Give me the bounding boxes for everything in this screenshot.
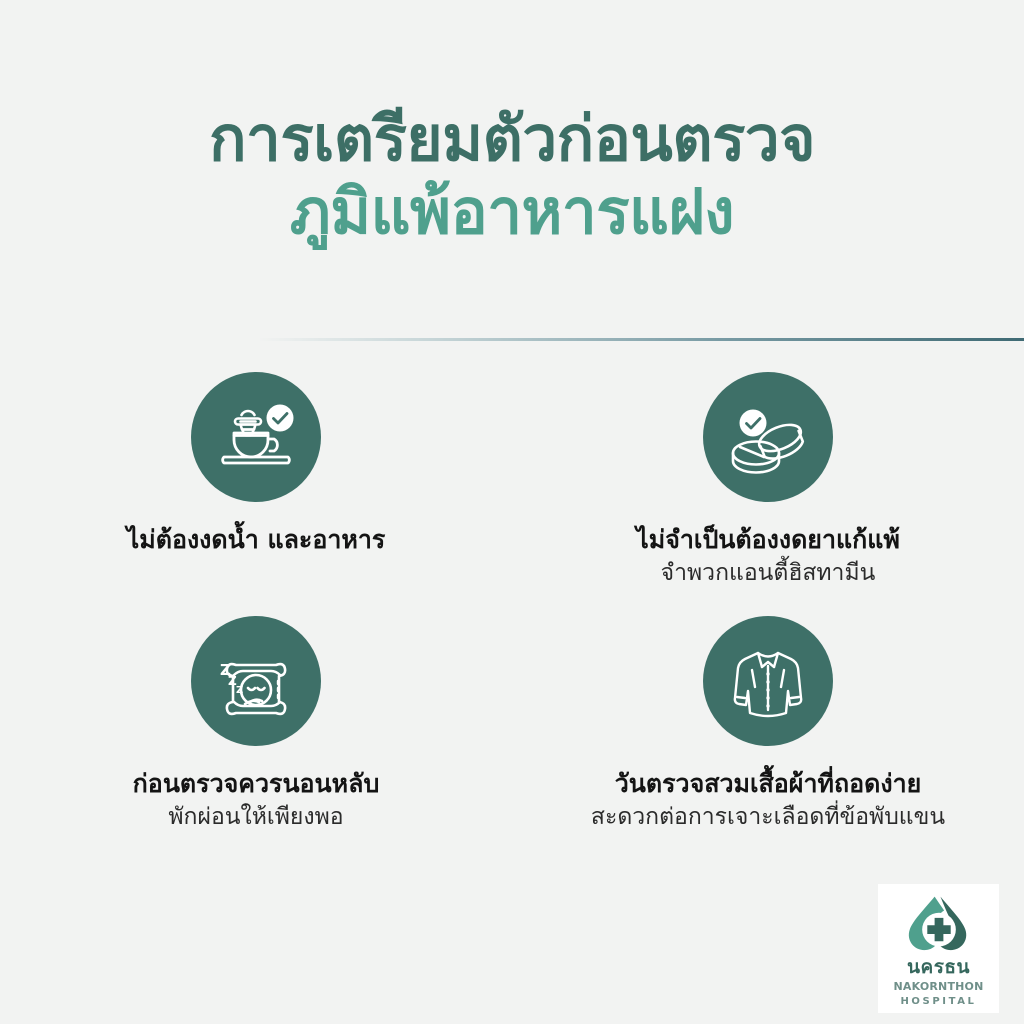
item-caption-sub: สะดวกต่อการเจาะเลือดที่ข้อพับแขน <box>591 803 945 833</box>
item-caption-main: ไม่ต้องงดน้ำ และอาหาร <box>127 524 386 557</box>
infographic-canvas: การเตรียมตัวก่อนตรวจ ภูมิแพ้อาหารแฝง <box>0 0 1024 1024</box>
item-no-antihistamine-stop: ไม่จำเป็นต้องงดยาแก้แพ้ จำพวกแอนตี้ฮิสทา… <box>512 372 1024 588</box>
svg-text:Z: Z <box>236 685 243 696</box>
item-caption-main: วันตรวจสวมเสื้อผ้าที่ถอดง่าย <box>615 768 922 801</box>
item-caption-main: ก่อนตรวจควรนอนหลับ <box>133 768 380 801</box>
hospital-logo: นครธน NAKORNTHON HOSPITAL <box>878 884 999 1013</box>
coffee-cup-food-check-icon <box>191 372 321 502</box>
page-title: การเตรียมตัวก่อนตรวจ ภูมิแพ้อาหารแฝง <box>0 104 1024 247</box>
title-line-primary: การเตรียมตัวก่อนตรวจ <box>0 104 1024 173</box>
item-caption-sub: จำพวกแอนตี้ฮิสทามีน <box>661 559 876 589</box>
header-divider <box>258 338 1024 341</box>
pills-check-icon <box>703 372 833 502</box>
droplet-medical-cross-icon <box>902 893 976 953</box>
item-caption-main: ไม่จำเป็นต้องงดยาแก้แพ้ <box>636 524 900 557</box>
item-sleep-well: Z Z Z ก่อนตรวจควรนอนหลับ พักผ่อนให้เพียง… <box>0 616 512 832</box>
title-line-accent: ภูมิแพ้อาหารแฝง <box>0 177 1024 246</box>
items-row-top: ไม่ต้องงดน้ำ และอาหาร <box>0 372 1024 588</box>
long-sleeve-shirt-icon <box>703 616 833 746</box>
logo-english-sub: HOSPITAL <box>900 996 976 1008</box>
preparation-items-grid: ไม่ต้องงดน้ำ และอาหาร <box>0 372 1024 833</box>
sleeping-pillow-zzz-icon: Z Z Z <box>191 616 321 746</box>
logo-thai-name: นครธน <box>907 958 970 977</box>
item-no-fasting: ไม่ต้องงดน้ำ และอาหาร <box>0 372 512 588</box>
logo-english-name: NAKORNTHON <box>893 981 983 994</box>
item-wear-easy-clothes: วันตรวจสวมเสื้อผ้าที่ถอดง่าย สะดวกต่อการ… <box>512 616 1024 832</box>
item-caption-sub: พักผ่อนให้เพียงพอ <box>168 803 343 833</box>
row-spacer <box>0 588 1024 616</box>
items-row-bottom: Z Z Z ก่อนตรวจควรนอนหลับ พักผ่อนให้เพียง… <box>0 616 1024 832</box>
